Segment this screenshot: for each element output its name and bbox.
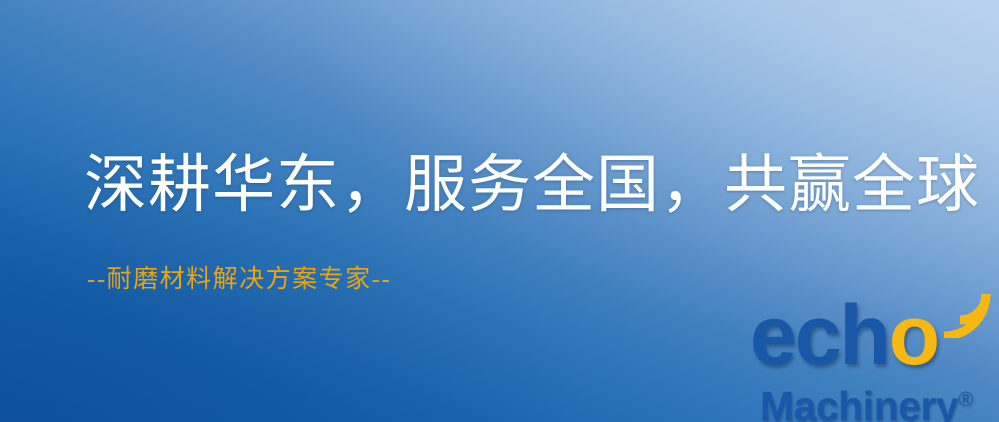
signal-arcs-icon — [942, 286, 998, 338]
company-logo: echo Machinery® — [748, 296, 999, 422]
registered-trademark-icon: ® — [958, 389, 973, 411]
logo-wordmark-gold: o — [889, 288, 938, 382]
logo-wordmark-blue: ech — [750, 288, 889, 382]
promo-banner: 深耕华东，服务全国，共赢全球 --耐磨材料解决方案专家-- echo Machi… — [0, 0, 999, 422]
logo-wordmark: echo — [748, 296, 999, 374]
banner-headline: 深耕华东，服务全国，共赢全球 — [84, 150, 980, 221]
logo-tagline: Machinery® — [748, 378, 999, 422]
logo-tagline-text: Machinery — [760, 383, 958, 422]
banner-subtitle: --耐磨材料解决方案专家-- — [87, 265, 391, 295]
